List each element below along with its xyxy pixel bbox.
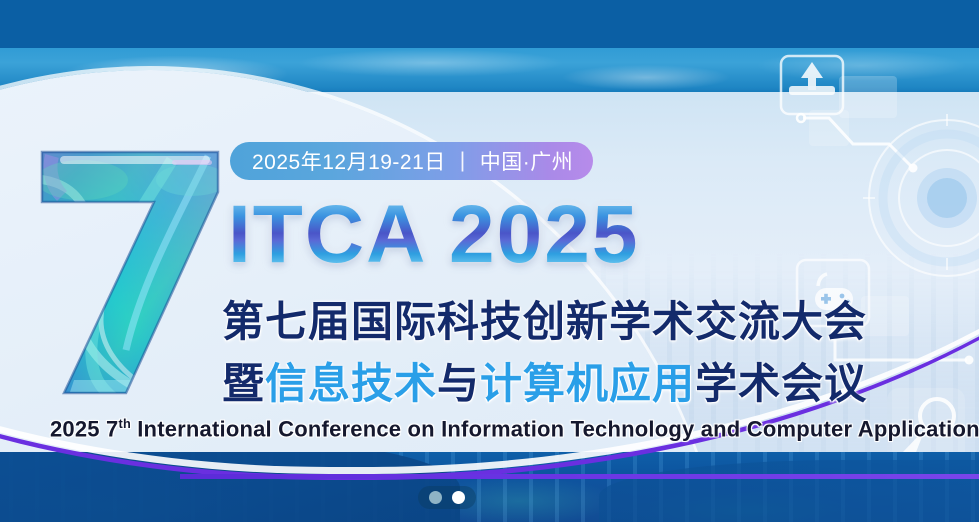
chinese-title-line-1: 第七届国际科技创新学术交流大会 <box>222 288 867 349</box>
conference-banner: 2025年12月19-21日 | 中国·广州 ITCA 2025 第七届国际科技… <box>0 0 979 522</box>
carousel-dot-1[interactable] <box>429 491 442 504</box>
carousel-indicator[interactable] <box>418 486 476 509</box>
english-title: 2025 7th International Conference on Inf… <box>50 416 979 442</box>
english-title-ordinal: th <box>119 416 131 431</box>
top-navigation-bar[interactable] <box>0 0 979 48</box>
carousel-dot-2[interactable] <box>452 491 465 504</box>
cn2-segment-1: 暨 <box>222 360 265 407</box>
date-location-separator: | <box>460 149 466 173</box>
conference-date: 2025年12月19-21日 <box>252 146 446 176</box>
banner-text-content: 2025年12月19-21日 | 中国·广州 ITCA 2025 第七届国际科技… <box>0 0 979 522</box>
english-title-prefix: 2025 7 <box>50 416 119 441</box>
conference-acronym-title: ITCA 2025 <box>228 188 639 282</box>
date-location-pill: 2025年12月19-21日 | 中国·广州 <box>230 142 593 180</box>
cn2-segment-3: 与 <box>437 360 480 407</box>
chinese-title-line-2: 暨信息技术与计算机应用学术会议 <box>222 350 867 411</box>
cn2-segment-4: 计算机应用 <box>480 360 695 407</box>
conference-location: 中国·广州 <box>480 146 574 176</box>
english-title-rest: International Conference on Information … <box>131 416 979 441</box>
cn2-segment-2: 信息技术 <box>265 360 437 407</box>
cn2-segment-5: 学术会议 <box>695 360 867 407</box>
